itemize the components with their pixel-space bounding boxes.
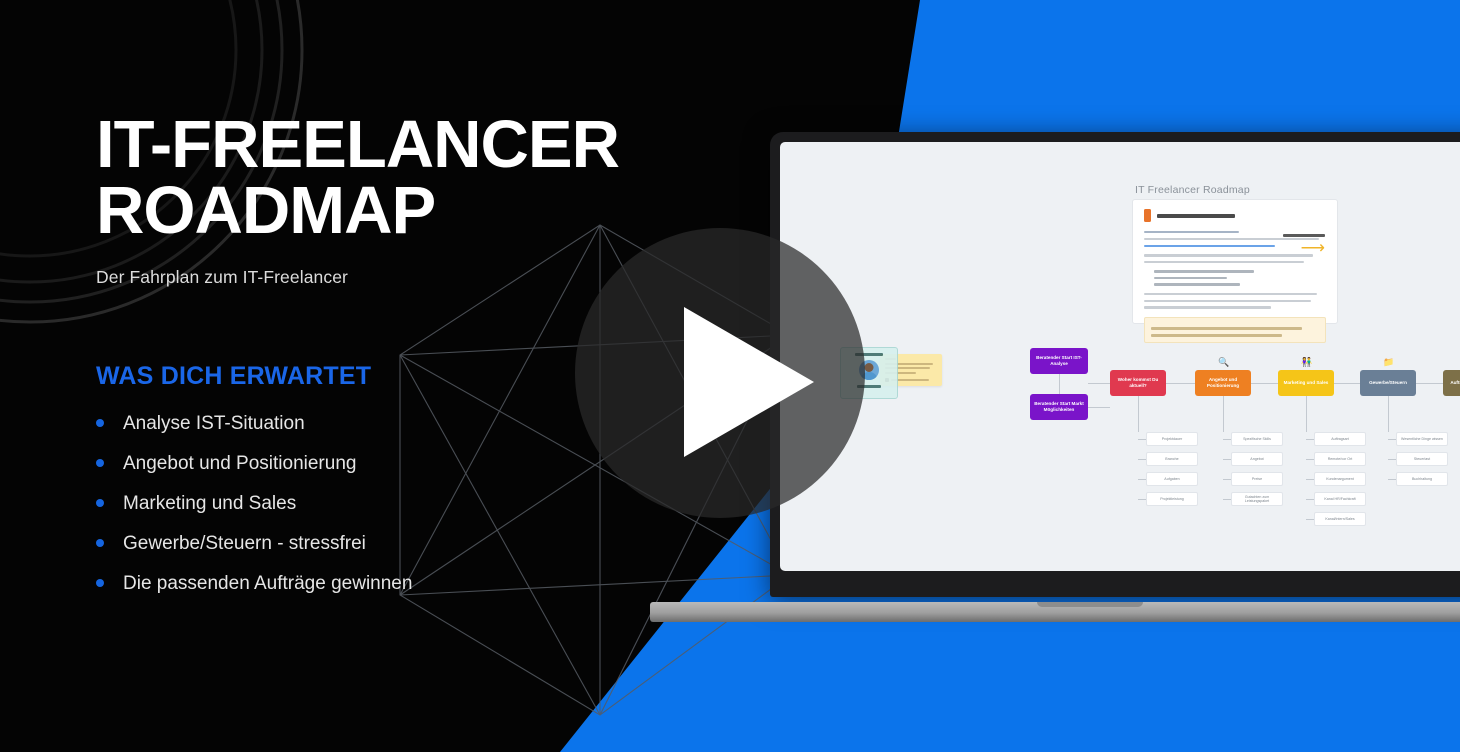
list-item-label: Angebot und Positionierung bbox=[123, 453, 356, 474]
roadmap-node[interactable]: Gewerbe/Steuern bbox=[1360, 370, 1416, 396]
connector bbox=[1223, 396, 1224, 432]
roadmap-subnode[interactable]: Projektleistung bbox=[1146, 492, 1198, 506]
connector bbox=[1306, 479, 1314, 480]
roadmap-subnode[interactable]: Spezifische Skills bbox=[1231, 432, 1283, 446]
connector bbox=[1306, 439, 1314, 440]
document-card-note bbox=[1144, 317, 1326, 343]
roadmap-subnode[interactable]: Kanal HR/Fachkraft bbox=[1314, 492, 1366, 506]
arrow-icon: ⟶ bbox=[1283, 239, 1325, 256]
connector bbox=[1088, 407, 1110, 408]
text-line-link bbox=[1144, 245, 1275, 247]
roadmap-subnode[interactable]: Projektdauer bbox=[1146, 432, 1198, 446]
roadmap-subnode[interactable]: Branche bbox=[1146, 452, 1198, 466]
document-card-cta[interactable]: ⟶ bbox=[1283, 234, 1325, 256]
text-line bbox=[1144, 231, 1239, 233]
roadmap-document-card: ⟶ bbox=[1132, 199, 1338, 324]
people-icon: 👫 bbox=[1301, 358, 1312, 367]
connector bbox=[1138, 479, 1146, 480]
text-line bbox=[1144, 293, 1317, 295]
roadmap-subnode[interactable]: Remote/vor Ort bbox=[1314, 452, 1366, 466]
connector bbox=[1306, 396, 1307, 432]
document-card-heading bbox=[1157, 214, 1235, 218]
connector bbox=[1059, 374, 1060, 394]
roadmap-subnode[interactable]: Wesentliche Dinge wissen bbox=[1396, 432, 1448, 446]
cta-label bbox=[1283, 234, 1325, 237]
page-title: IT-FREELANCER ROADMAP bbox=[96, 112, 686, 243]
text-line bbox=[1144, 300, 1311, 302]
bullet-dot bbox=[96, 419, 104, 427]
list-item: Analyse IST-Situation bbox=[96, 412, 426, 436]
connector bbox=[1088, 383, 1110, 384]
canvas-title: IT Freelancer Roadmap bbox=[1135, 184, 1250, 196]
text-line bbox=[1144, 261, 1304, 263]
roadmap-subnode[interactable]: Steuerlast bbox=[1396, 452, 1448, 466]
list-item-label: Marketing und Sales bbox=[123, 493, 296, 514]
connector bbox=[1388, 479, 1396, 480]
bullet-dot bbox=[96, 539, 104, 547]
connector bbox=[1138, 439, 1146, 440]
roadmap-subnode[interactable]: Kundenargument bbox=[1314, 472, 1366, 486]
roadmap-node[interactable]: Aufträge gewinnen bbox=[1443, 370, 1460, 396]
video-thumbnail: IT Freelancer Roadmap bbox=[0, 0, 1460, 752]
connector bbox=[1223, 459, 1231, 460]
laptop-screen: IT Freelancer Roadmap bbox=[780, 142, 1460, 571]
bullet-line bbox=[1154, 270, 1254, 272]
roadmap-subnode[interactable]: Buchhaltung bbox=[1396, 472, 1448, 486]
bullet-dot bbox=[96, 579, 104, 587]
magnifier-icon: 🔍 bbox=[1218, 358, 1229, 367]
connector bbox=[1306, 459, 1314, 460]
roadmap-subnode[interactable]: Kanal/Intern/Sales bbox=[1314, 512, 1366, 526]
connector bbox=[1416, 383, 1443, 384]
connector bbox=[1251, 383, 1278, 384]
roadmap-node[interactable]: Beratender Start Markt Möglichkeiten bbox=[1030, 394, 1088, 420]
connector bbox=[1388, 439, 1396, 440]
list-item-label: Analyse IST-Situation bbox=[123, 413, 305, 434]
roadmap-node[interactable]: Woher kommst Du aktuell? bbox=[1110, 370, 1166, 396]
bullet-line bbox=[1154, 283, 1240, 285]
roadmap-canvas: IT Freelancer Roadmap bbox=[780, 142, 1460, 571]
text-line bbox=[1144, 306, 1271, 308]
folder-icon: 📁 bbox=[1383, 358, 1394, 367]
list-item-label: Die passenden Aufträge gewinnen bbox=[123, 573, 412, 594]
connector bbox=[1223, 439, 1231, 440]
roadmap-subnode[interactable]: Aufgaben bbox=[1146, 472, 1198, 486]
bullet-dot bbox=[96, 459, 104, 467]
list-item: Angebot und Positionierung bbox=[96, 452, 426, 476]
roadmap-node[interactable]: Beratender Start IST-Analyse bbox=[1030, 348, 1088, 374]
connector bbox=[1388, 396, 1389, 432]
roadmap-subnode[interactable]: Preise bbox=[1231, 472, 1283, 486]
connector bbox=[1138, 499, 1146, 500]
note-line-link bbox=[1151, 334, 1282, 336]
play-triangle-icon bbox=[684, 307, 814, 457]
roadmap-subnode[interactable]: Angebot bbox=[1231, 452, 1283, 466]
list-item: Die passenden Aufträge gewinnen bbox=[96, 572, 426, 596]
connector bbox=[1223, 479, 1231, 480]
connector bbox=[1334, 383, 1360, 384]
note-line bbox=[1151, 327, 1302, 329]
connector bbox=[1223, 499, 1231, 500]
roadmap-subnode[interactable]: Auftragsart bbox=[1314, 432, 1366, 446]
connector bbox=[1306, 499, 1314, 500]
bullet-line bbox=[1154, 277, 1227, 279]
roadmap-node[interactable]: Angebot und Positionierung bbox=[1195, 370, 1251, 396]
list-item-label: Gewerbe/Steuern - stressfrei bbox=[123, 533, 366, 554]
document-card-header bbox=[1144, 209, 1326, 222]
bullet-dot bbox=[96, 499, 104, 507]
laptop-base bbox=[650, 602, 1460, 622]
list-item: Marketing und Sales bbox=[96, 492, 426, 516]
book-icon bbox=[1144, 209, 1151, 222]
connector bbox=[1138, 396, 1139, 432]
connector bbox=[1388, 459, 1396, 460]
connector bbox=[1138, 459, 1146, 460]
laptop-lid: IT Freelancer Roadmap bbox=[770, 132, 1460, 597]
connector bbox=[1166, 383, 1195, 384]
roadmap-subnode[interactable]: Gutachten zum Leistungspaket bbox=[1231, 492, 1283, 506]
play-button[interactable] bbox=[575, 228, 865, 518]
connector bbox=[1306, 519, 1314, 520]
list-item: Gewerbe/Steuern - stressfrei bbox=[96, 532, 426, 556]
roadmap-node[interactable]: Marketing und Sales bbox=[1278, 370, 1334, 396]
